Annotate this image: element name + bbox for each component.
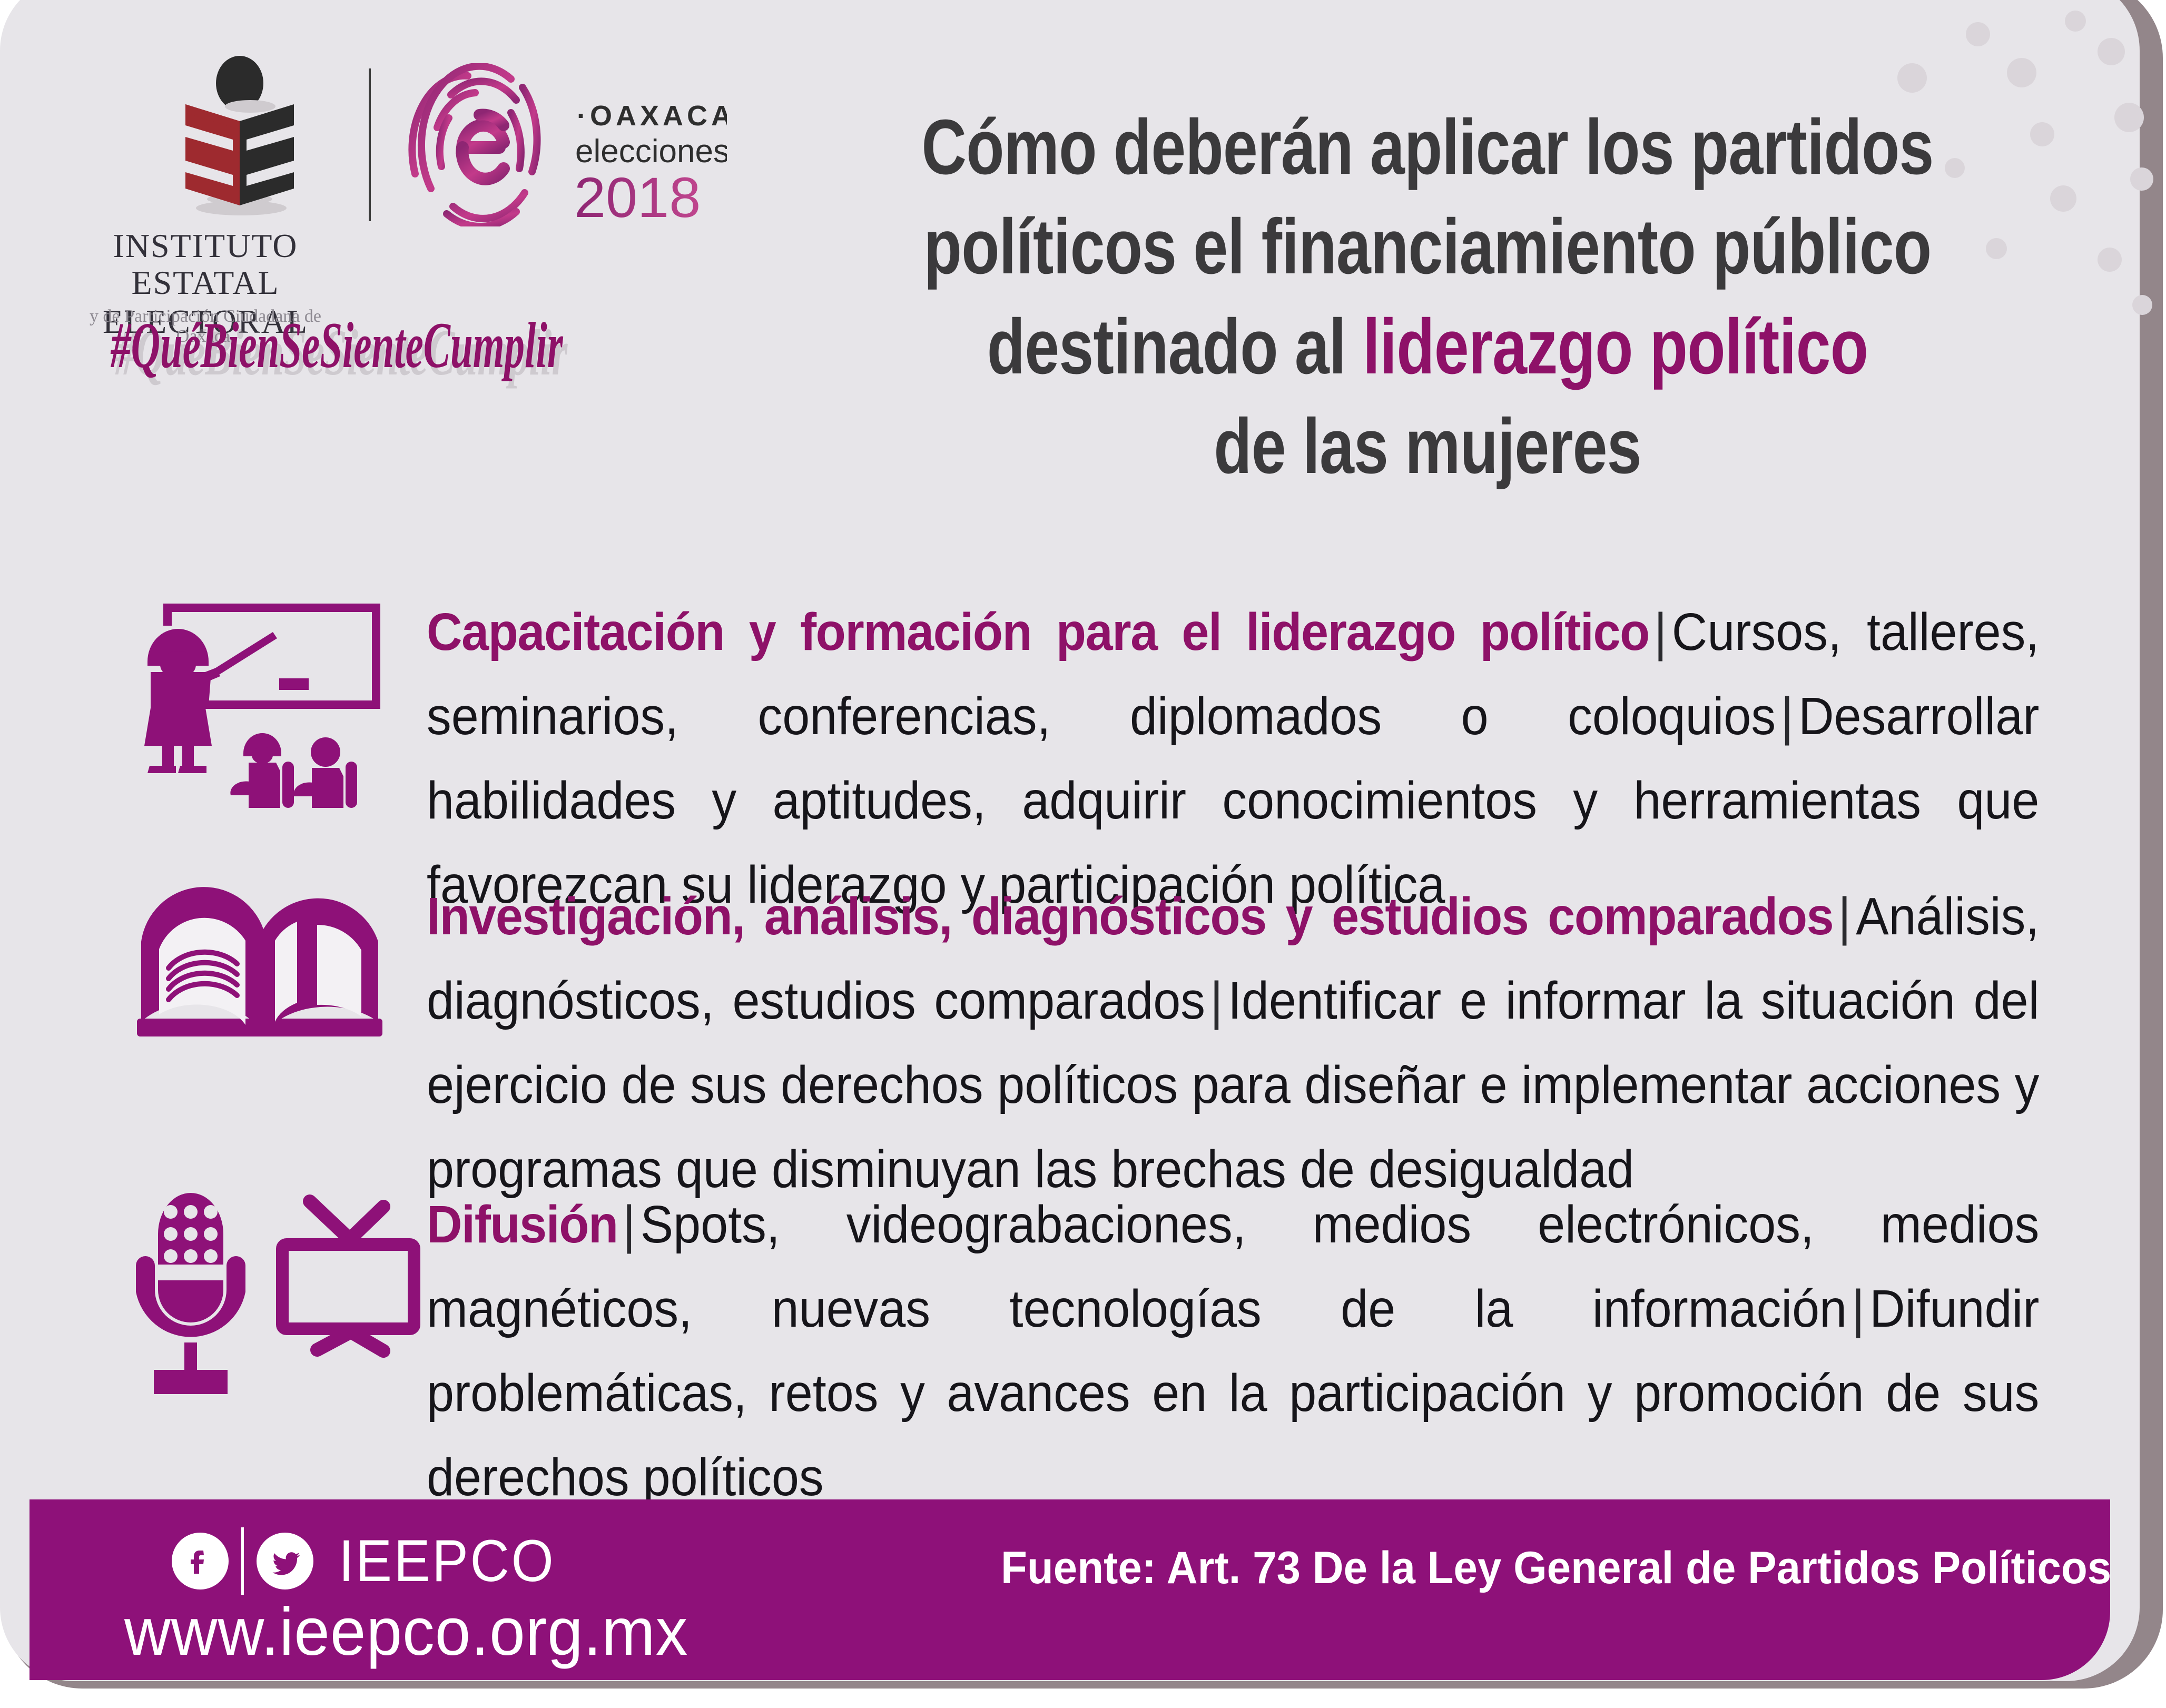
year-label: 2018: [574, 165, 701, 226]
page-title: Cómo deberán aplicar los partidos políti…: [918, 97, 1937, 497]
section-lead: Capacitación y formación para el lideraz…: [427, 603, 1649, 662]
section-difusion: Difusión|Spots, videograbaciones, medios…: [132, 1182, 2039, 1519]
pipe-separator: |: [1649, 603, 1672, 662]
pipe-separator: |: [1776, 687, 1798, 746]
title-line-2: políticos el financiamiento público: [924, 203, 1932, 290]
twitter-icon[interactable]: [257, 1533, 313, 1589]
logo-divider: [369, 68, 371, 221]
section-text: Investigación, análisis, diagnósticos y …: [427, 874, 2039, 1211]
institute-line-1: INSTITUTO: [63, 226, 348, 265]
source-note: Fuente: Art. 73 De la Ley General de Par…: [1001, 1542, 2111, 1594]
iee-book-person-logo: [153, 47, 327, 221]
elecciones-label: elecciones: [575, 133, 727, 170]
pipe-separator: |: [618, 1195, 641, 1254]
section-lead: Difusión: [427, 1195, 618, 1254]
title-highlight: liderazgo político: [1363, 303, 1868, 390]
open-book-icon: [132, 874, 427, 1211]
title-line-4: de las mujeres: [1214, 403, 1641, 490]
campaign-hashtag: #QuéBienSeSienteCumplir: [111, 308, 563, 383]
social-links: IEEPCO: [172, 1527, 574, 1595]
section-text: Difusión|Spots, videograbaciones, medios…: [427, 1182, 2039, 1519]
section-lead: Investigación, análisis, diagnósticos y …: [427, 887, 1833, 946]
title-line-1: Cómo deberán aplicar los partidos: [921, 104, 1933, 191]
pipe-separator: |: [1847, 1279, 1869, 1338]
oaxaca-elecciones-2018-logo: ·OAXACA· elecciones 2018: [400, 63, 727, 226]
pipe-separator: |: [1833, 887, 1856, 946]
social-handle: IEEPCO: [339, 1527, 555, 1595]
facebook-icon[interactable]: [172, 1533, 229, 1589]
section-part1: Spots, videograbaciones, medios electrón…: [427, 1195, 2039, 1338]
website-url[interactable]: www.ieepco.org.mx: [124, 1593, 688, 1671]
section-investigacion: Investigación, análisis, diagnósticos y …: [132, 874, 2039, 1211]
infographic-page: ·OAXACA· elecciones 2018 INSTITUTO ESTAT…: [0, 0, 2166, 1708]
title-line-3-prefix: destinado al: [987, 303, 1363, 390]
social-divider: [241, 1527, 244, 1595]
pipe-separator: |: [1205, 971, 1228, 1030]
microphone-tv-icon: [132, 1182, 427, 1519]
oaxaca-label: ·OAXACA·: [577, 100, 727, 132]
